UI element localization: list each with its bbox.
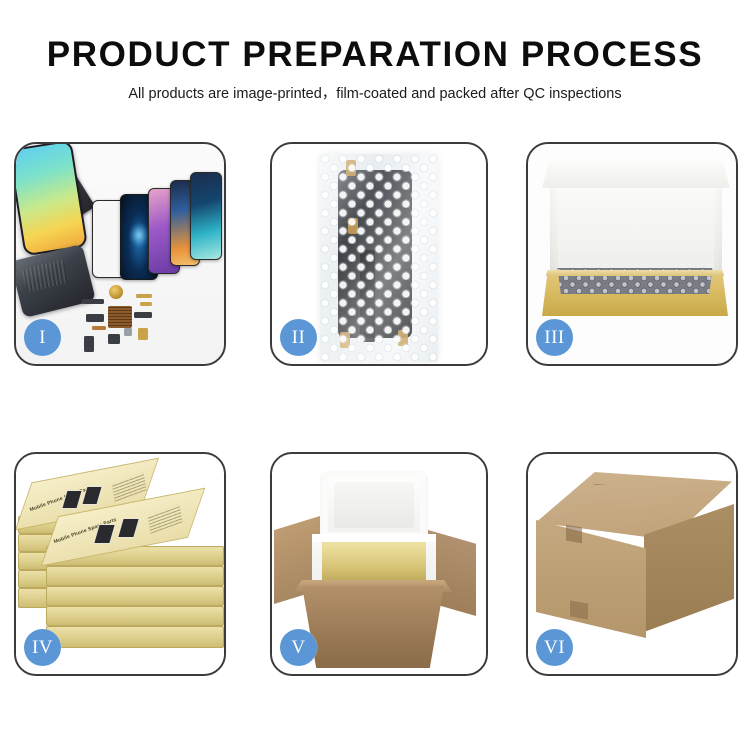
process-step-grid: I II bbox=[14, 142, 738, 676]
yellow-boxes-cavity-icon bbox=[322, 542, 426, 586]
gold-connector-part-icon bbox=[136, 294, 152, 298]
camera-module-part-icon bbox=[86, 314, 104, 322]
step-badge-4: IV bbox=[24, 629, 61, 666]
step-badge-1: I bbox=[24, 319, 61, 356]
speaker-mesh-part-icon bbox=[108, 306, 132, 328]
product-preparation-infographic: PRODUCT PREPARATION PROCESS All products… bbox=[0, 0, 750, 750]
carton-body-icon bbox=[302, 586, 444, 668]
antenna-strip-part-icon bbox=[82, 299, 104, 304]
bubble-wrap-pouch-icon bbox=[320, 154, 438, 362]
process-step-panel-3[interactable]: III bbox=[526, 142, 738, 366]
process-step-panel-2[interactable]: II bbox=[270, 142, 488, 366]
camera-lens-part-icon bbox=[108, 334, 120, 344]
yellow-box-slat-7 bbox=[398, 542, 413, 586]
process-step-panel-1[interactable]: I bbox=[14, 142, 226, 366]
kraft-box-lip-icon bbox=[542, 270, 728, 276]
stack-box-f5 bbox=[46, 626, 224, 648]
stack-box-f3 bbox=[46, 586, 224, 606]
foam-sheet-icon bbox=[558, 188, 714, 274]
styrofoam-lid-recess-icon bbox=[334, 482, 414, 528]
header: PRODUCT PREPARATION PROCESS All products… bbox=[0, 34, 750, 103]
step-badge-6: VI bbox=[536, 629, 573, 666]
process-step-panel-5[interactable]: V bbox=[270, 452, 488, 676]
charging-port-part-icon bbox=[134, 312, 152, 318]
battery-connector-part-icon bbox=[138, 328, 148, 340]
process-step-panel-6[interactable]: VI bbox=[526, 452, 738, 676]
stack-box-f2 bbox=[46, 566, 224, 586]
step-badge-2: II bbox=[280, 319, 317, 356]
stack-box-f4 bbox=[46, 606, 224, 626]
plastic-sheen-overlay bbox=[320, 154, 438, 362]
sim-tray-part-icon bbox=[84, 336, 94, 352]
step-badge-5: V bbox=[280, 629, 317, 666]
styrofoam-rim-icon bbox=[312, 534, 436, 542]
yellow-box-slat-6 bbox=[384, 542, 399, 586]
copper-flex-part-icon bbox=[92, 326, 106, 330]
yellow-box-slat-8 bbox=[412, 542, 426, 586]
carton-tape-upper-icon bbox=[566, 525, 582, 544]
screw-set-part-icon bbox=[124, 328, 132, 336]
carton-tape-lower-icon bbox=[570, 600, 588, 619]
page-title: PRODUCT PREPARATION PROCESS bbox=[0, 34, 750, 76]
step-badge-3: III bbox=[536, 319, 573, 356]
page-subtitle: All products are image-printed，film-coat… bbox=[0, 85, 750, 103]
teal-wave-phone-icon bbox=[190, 172, 222, 260]
box-lid-flap-icon bbox=[542, 160, 730, 188]
gold-bracket-part-icon bbox=[140, 302, 152, 306]
yellow-box-slat-5 bbox=[370, 542, 385, 586]
vibration-motor-part-icon bbox=[109, 285, 123, 299]
process-step-panel-4[interactable]: Mobile Phone Spare Parts Mobile Phone Sp… bbox=[14, 452, 226, 676]
